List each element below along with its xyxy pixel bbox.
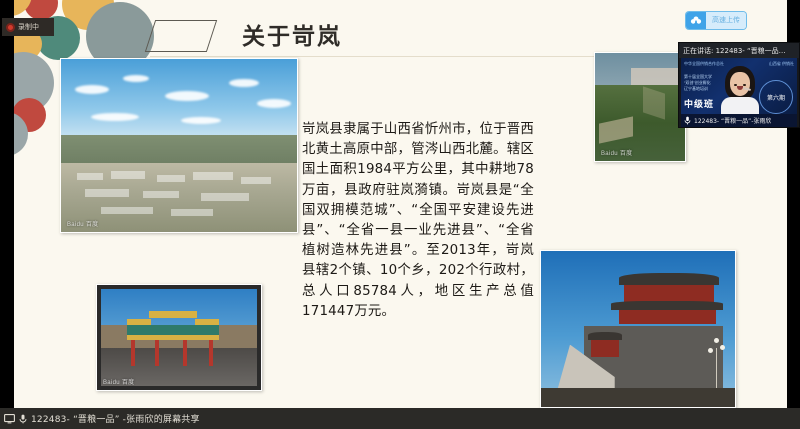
record-dot-icon <box>6 23 15 32</box>
video-slide-org-left: 中华全国供销合作总社 <box>684 61 724 67</box>
parallelogram-decor-icon <box>145 20 217 52</box>
cloud-upload-icon <box>686 12 706 29</box>
active-speaker-label: 正在讲话: 122483- “晋粮一品… <box>679 43 799 58</box>
photo-paifang-archway: Baidu 百度 <box>96 284 262 391</box>
screen-share-icon <box>4 414 15 424</box>
recording-indicator: 录制中 <box>2 18 54 36</box>
photo-watermark: Baidu 百度 <box>601 148 632 157</box>
video-slide-badge: 第六期 <box>767 93 785 102</box>
shared-screen-area: 关于岢岚 <box>0 0 800 408</box>
photo-watermark: Baidu 百度 <box>103 377 134 386</box>
upload-button-label: 高速上传 <box>706 12 746 29</box>
slide-body-text: 岢岚县隶属于山西省忻州市，位于晋西北黄土高原中部，管涔山西北麓。辖区国土面积19… <box>302 120 534 322</box>
photo-watermark: Baidu 百度 <box>67 219 98 228</box>
photo-gate-tower <box>540 250 736 408</box>
video-slide-headline: 中级班 <box>684 97 714 110</box>
page-title: 关于岢岚 <box>242 14 342 58</box>
photo-aerial-village: Baidu 百度 <box>594 52 686 162</box>
recording-label: 录制中 <box>18 22 39 32</box>
video-footer: 122483- “晋粮一品”-张雨欣 <box>681 114 797 127</box>
video-stage: 中华全国供销合作总社 山西省 供销社 第十届全国大学 “双创”创业孵化 辽宁基地… <box>681 58 797 114</box>
participant-video-panel[interactable]: 正在讲话: 122483- “晋粮一品… 中华全国供销合作总社 山西省 供销社 … <box>678 42 800 128</box>
status-bar: 122483- “晋粮一品” -张雨欣的屏幕共享 <box>0 408 800 429</box>
speaker-body <box>721 97 759 114</box>
photo-landscape-panorama: Baidu 百度 <box>60 58 298 233</box>
video-slide-org-right: 山西省 供销社 <box>769 61 794 67</box>
body-paragraph: 岢岚县隶属于山西省忻州市，位于晋西北黄土高原中部，管涔山西北麓。辖区国土面积19… <box>302 120 534 322</box>
upload-button[interactable]: 高速上传 <box>686 12 746 29</box>
status-bar-text: 122483- “晋粮一品” -张雨欣的屏幕共享 <box>31 412 200 425</box>
left-letterbox <box>0 0 14 408</box>
microphone-icon <box>684 116 691 125</box>
microphone-icon <box>19 414 27 424</box>
screen-share-window: 关于岢岚 <box>0 0 800 429</box>
speaker-webcam-figure <box>721 66 759 114</box>
video-slide-badge-ring: 第六期 <box>759 80 793 114</box>
slide-title-row: 关于岢岚 <box>150 14 670 58</box>
photo-hills <box>61 135 297 166</box>
speaker-face <box>730 72 750 96</box>
photo-ground <box>541 388 735 407</box>
video-participant-name: 122483- “晋粮一品”-张雨欣 <box>694 116 771 125</box>
presentation-slide: 关于岢岚 <box>14 0 787 408</box>
